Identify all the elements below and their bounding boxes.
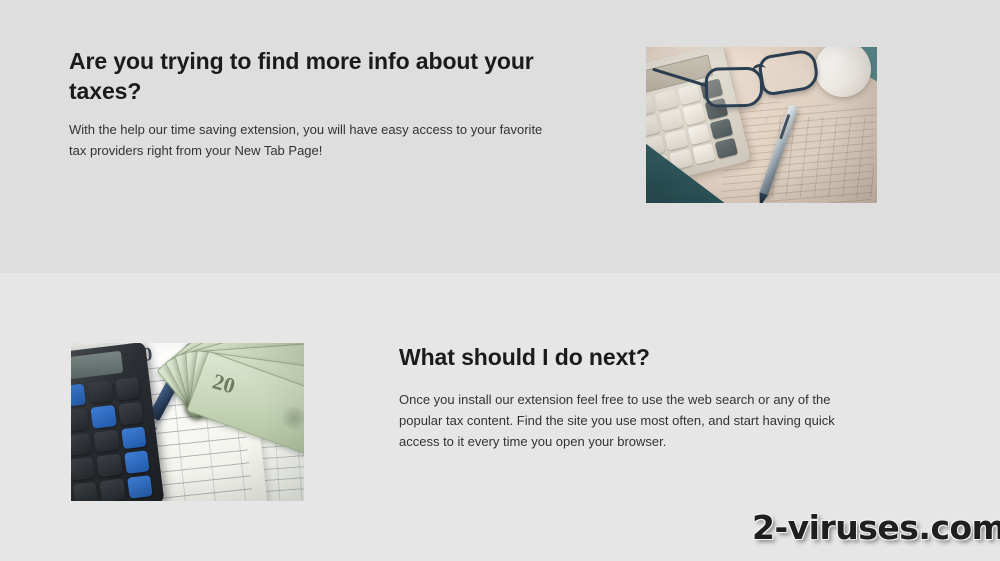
tax-desk-photo [646, 47, 877, 203]
photo-vignette [71, 343, 304, 501]
taxes-info-paragraph: With the help our time saving extension,… [69, 119, 559, 161]
site-watermark: 2-viruses.com [752, 508, 1000, 547]
photo-vignette [646, 47, 877, 203]
form-1040-money-photo: 1040 Label Filing Status Exemptions 20 2… [71, 343, 304, 501]
what-next-title: What should I do next? [399, 342, 869, 372]
page-root: Are you trying to find more info about y… [0, 0, 1000, 561]
what-next-paragraph: Once you install our extension feel free… [399, 389, 849, 452]
page-title: Are you trying to find more info about y… [69, 46, 539, 107]
